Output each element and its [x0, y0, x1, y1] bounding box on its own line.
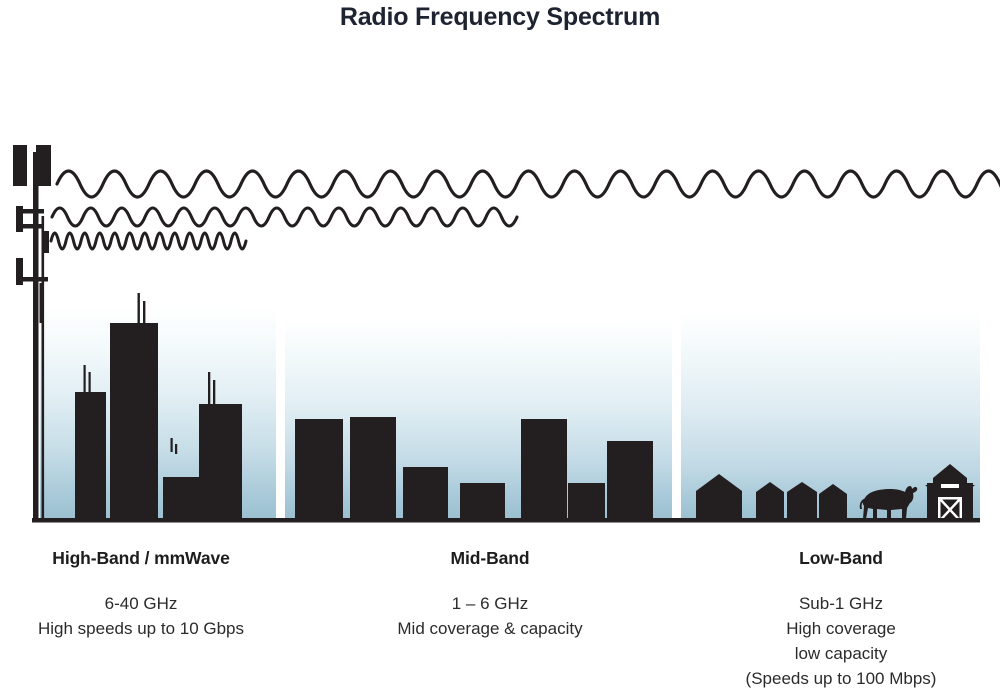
building [110, 323, 158, 520]
band-detail-high-band-0: High speeds up to 10 Gbps [0, 616, 282, 641]
band-description-mid-band: 1 – 6 GHz Mid coverage & capacity [349, 591, 631, 641]
infographic-canvas: Radio Frequency Spectrum [0, 0, 1000, 700]
band-frequency-high-band: 6-40 GHz [0, 591, 282, 616]
building [350, 417, 396, 520]
band-description-low-band: Sub-1 GHz High coverage low capacity (Sp… [700, 591, 982, 691]
building [163, 477, 199, 520]
band-label-mid-band: Mid-Band [349, 548, 631, 569]
band-detail-low-band-1: low capacity [700, 641, 982, 666]
band-frequency-mid-band: 1 – 6 GHz [349, 591, 631, 616]
building [199, 404, 242, 520]
antenna-panel-low [16, 258, 23, 285]
antenna-panel-large-left [13, 145, 27, 186]
low-frequency-wave [57, 171, 1000, 197]
building [521, 419, 567, 520]
band-detail-mid-band-0: Mid coverage & capacity [349, 616, 631, 641]
antenna-panel-large-right [36, 145, 51, 186]
ground-baseline [32, 518, 980, 523]
building [460, 483, 505, 520]
building [75, 392, 106, 520]
band-description-high-band: 6-40 GHz High speeds up to 10 Gbps [0, 591, 282, 641]
building [295, 419, 343, 520]
building [568, 483, 605, 520]
mid-frequency-wave [52, 208, 517, 226]
high-frequency-wave [51, 233, 246, 249]
building [607, 441, 653, 520]
band-label-low-band: Low-Band [700, 548, 982, 569]
band-detail-low-band-2: (Speeds up to 100 Mbps) [700, 666, 982, 691]
band-label-high-band: High-Band / mmWave [0, 548, 282, 569]
building [403, 467, 448, 520]
band-detail-low-band-0: High coverage [700, 616, 982, 641]
band-frequency-low-band: Sub-1 GHz [700, 591, 982, 616]
antenna-panel-mid [16, 206, 23, 232]
antenna-panel-small [42, 231, 49, 253]
